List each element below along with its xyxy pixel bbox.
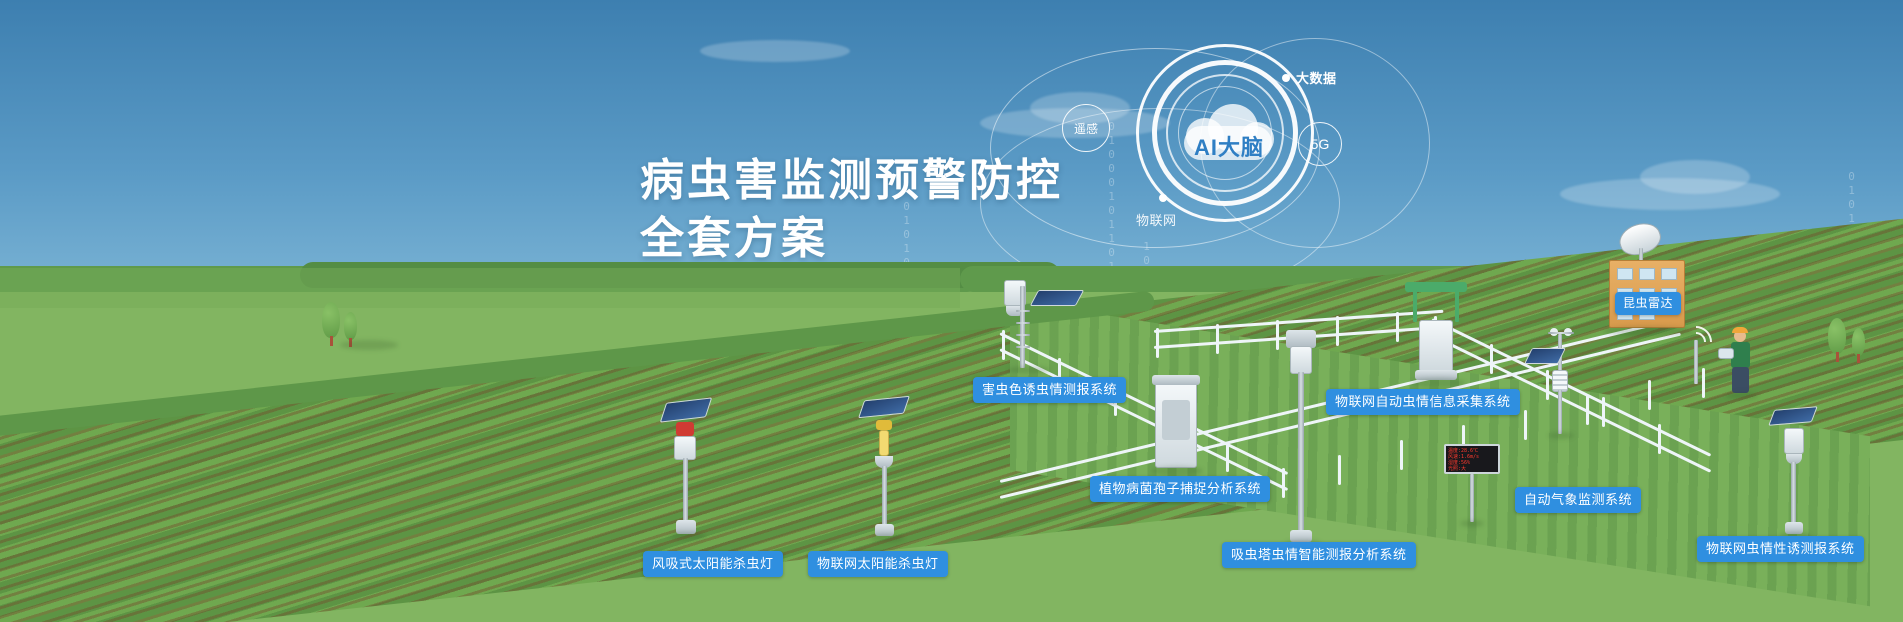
ladder-rung xyxy=(1016,310,1030,312)
led-line-4: 光照:大 xyxy=(1448,466,1496,472)
label-wind-suction-solar-insect-killing-lamp[interactable]: 风吸式太阳能杀虫灯 xyxy=(643,551,783,577)
infographic-scene: 01000101101 0101001010 010110101101 1001… xyxy=(0,0,1903,622)
lamp-head xyxy=(676,422,694,436)
fence-post xyxy=(1524,410,1527,440)
canopy-leg-right xyxy=(1455,290,1459,322)
equipment-shadow xyxy=(670,532,706,540)
equipment-shadow xyxy=(1603,326,1693,336)
fence-post xyxy=(1276,320,1279,350)
tower-mast xyxy=(1298,372,1304,536)
fence-post xyxy=(1216,324,1219,354)
label-plant-pathogen-spore-capture-system[interactable]: 植物病菌孢子捕捉分析系统 xyxy=(1090,476,1270,502)
solar-panel xyxy=(1030,290,1085,306)
label-suction-tower-pest-forecast-system[interactable]: 吸虫塔虫情智能测报分析系统 xyxy=(1222,542,1416,568)
fence-post xyxy=(1702,368,1705,398)
ladder-rung xyxy=(1016,346,1030,348)
equipment-shadow xyxy=(870,534,904,542)
label-iot-solar-insect-killing-lamp[interactable]: 物联网太阳能杀虫灯 xyxy=(808,551,948,577)
worker-shadow xyxy=(1726,392,1758,399)
fence-post xyxy=(1658,424,1661,454)
led-screen: 温度:28.6℃ 风速:1.6m/s 湿度:56% 光照:大 xyxy=(1444,444,1500,474)
equipment-shadow xyxy=(1151,466,1203,476)
fence-post xyxy=(1002,330,1005,360)
label-pest-color-trap-system[interactable]: 害虫色诱虫情测报系统 xyxy=(973,377,1126,403)
label-insect-radar[interactable]: 昆虫雷达 xyxy=(1615,292,1681,315)
building-window xyxy=(1617,268,1633,280)
equipment-shadow xyxy=(1460,520,1484,527)
ladder-rung xyxy=(1016,322,1030,324)
fence-post xyxy=(1226,442,1229,472)
label-auto-weather-monitoring-system[interactable]: 自动气象监测系统 xyxy=(1515,487,1641,513)
fence-post xyxy=(1400,440,1403,470)
lamp-pole xyxy=(683,458,688,526)
lamp-tube xyxy=(879,430,889,456)
equipment-shadow xyxy=(1411,378,1465,388)
ladder-rung xyxy=(1016,334,1030,336)
fence-post xyxy=(1282,468,1285,498)
tower-housing xyxy=(1290,346,1312,374)
fence-post xyxy=(1648,380,1651,410)
fence-post xyxy=(1586,395,1589,425)
fence-post xyxy=(1546,370,1549,400)
station-pole xyxy=(1558,390,1562,434)
building-window xyxy=(1661,268,1677,280)
lamp-collector xyxy=(674,436,696,460)
lamp-pole xyxy=(882,466,887,530)
lamp-head xyxy=(876,420,892,430)
cabinet-top xyxy=(1152,375,1200,385)
fence-post xyxy=(1396,312,1399,342)
worker-tablet xyxy=(1718,348,1734,359)
cabinet-vent xyxy=(1162,400,1190,440)
label-iot-auto-pest-info-collection-system[interactable]: 物联网自动虫情信息采集系统 xyxy=(1326,389,1520,415)
equipment-shadow xyxy=(1548,432,1574,439)
trap-housing xyxy=(1784,428,1804,454)
building-window xyxy=(1639,268,1655,280)
board-pole xyxy=(1470,474,1474,522)
fence-post xyxy=(1602,397,1605,427)
mount-pole xyxy=(1020,286,1025,368)
canopy-leg-left xyxy=(1413,290,1417,322)
trap-pole xyxy=(1791,462,1796,528)
label-iot-pheromone-pest-forecast-system[interactable]: 物联网虫情性诱测报系统 xyxy=(1697,536,1864,562)
fence-post xyxy=(1156,328,1159,358)
fence-post xyxy=(1338,455,1341,485)
worker-hat xyxy=(1732,327,1748,333)
fence-post xyxy=(1490,344,1493,374)
crossarm xyxy=(1548,332,1574,334)
collector-body xyxy=(1419,320,1453,372)
radiation-shield xyxy=(1552,370,1568,392)
fence-post xyxy=(1336,316,1339,346)
fence-rail-left-top xyxy=(999,332,1288,475)
worker-legs xyxy=(1732,367,1749,393)
equipment-shadow xyxy=(1008,366,1050,374)
